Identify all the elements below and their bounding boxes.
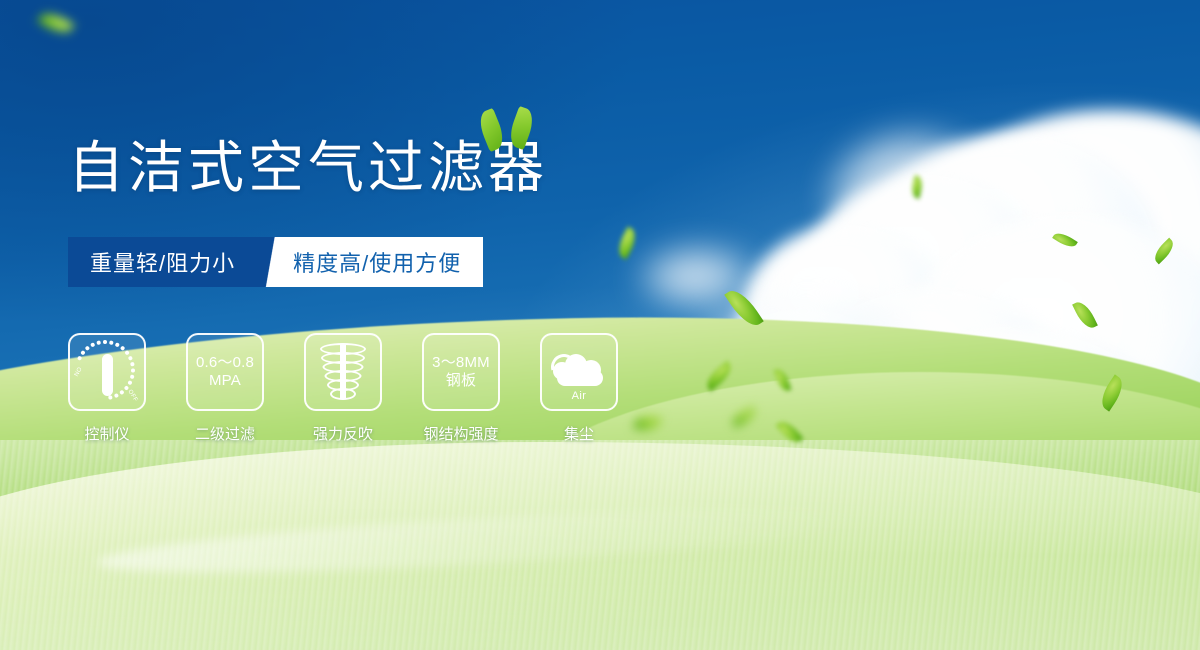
gauge-label-no: NO [74,366,84,377]
gauge-dot [130,362,135,367]
gauge-dot [128,356,133,361]
title-block: 自洁式空气过滤器 [68,138,548,197]
pressure-text-icon: 0.6～0.8 MPA [196,354,254,391]
gauge-dot [127,380,132,385]
feature-item-steel[interactable]: 3～8MM 钢板 钢结构强度 [422,333,500,444]
feature-box: Air [540,333,618,411]
gauge-dot [115,342,120,347]
gauge-dial-icon: NO OFF [74,339,140,405]
gauge-dot [130,374,135,379]
gauge-dot [120,345,126,351]
gauge-dot [124,350,130,356]
ribbon-left-text: 重量轻/阻力小 [68,237,259,287]
coil-ring [330,388,356,400]
air-cloud-icon: Air [551,350,607,394]
feature-caption: 集尘 [540,423,618,444]
ribbon-slant-divider [259,237,285,287]
gauge-label-off: OFF [127,389,139,403]
sprout-leaf-right [506,106,538,150]
pressure-unit: MPA [196,372,254,390]
feature-list: NO OFF 控制仪 0.6～0.8 MPA 二级过滤 [68,333,618,444]
feature-item-control[interactable]: NO OFF 控制仪 [68,333,146,444]
pressure-value: 0.6～0.8 [196,354,254,372]
ribbon-right-text: 精度高/使用方便 [285,237,483,287]
product-hero-banner: 自洁式空气过滤器 重量轻/阻力小 精度高/使用方便 [0,0,1200,650]
sprout-leaf-left [475,108,508,152]
feature-caption: 强力反吹 [304,423,382,444]
gauge-needle [102,354,113,396]
gauge-dot [96,340,101,345]
gauge-dot [103,340,107,344]
gauge-dot [90,342,95,347]
grass-field-near [0,442,1200,650]
subtitle-ribbon: 重量轻/阻力小 精度高/使用方便 [68,237,483,287]
gauge-dot [131,368,135,372]
feature-item-blowback[interactable]: 强力反吹 [304,333,382,444]
cloud-base [557,370,603,386]
air-label: Air [551,390,607,402]
gauge-dot [80,350,86,356]
feature-caption: 二级过滤 [186,423,264,444]
steel-thickness: 3～8MM [432,354,490,372]
sprout-leaves-icon [472,102,542,150]
feature-caption: 控制仪 [68,423,146,444]
feature-caption: 钢结构强度 [422,423,500,444]
gauge-dot [109,340,114,345]
gauge-dot [114,393,119,398]
feature-item-dust[interactable]: Air 集尘 [540,333,618,444]
gauge-dot [119,390,125,396]
gauge-dot [85,345,91,351]
feature-box [304,333,382,411]
steel-plate-text-icon: 3～8MM 钢板 [432,354,490,391]
steel-material: 钢板 [432,372,490,390]
feature-box: 3～8MM 钢板 [422,333,500,411]
feature-item-filtration[interactable]: 0.6～0.8 MPA 二级过滤 [186,333,264,444]
coil-filter-icon [317,343,369,401]
gauge-dot [77,356,82,361]
feature-box: 0.6～0.8 MPA [186,333,264,411]
feature-box: NO OFF [68,333,146,411]
